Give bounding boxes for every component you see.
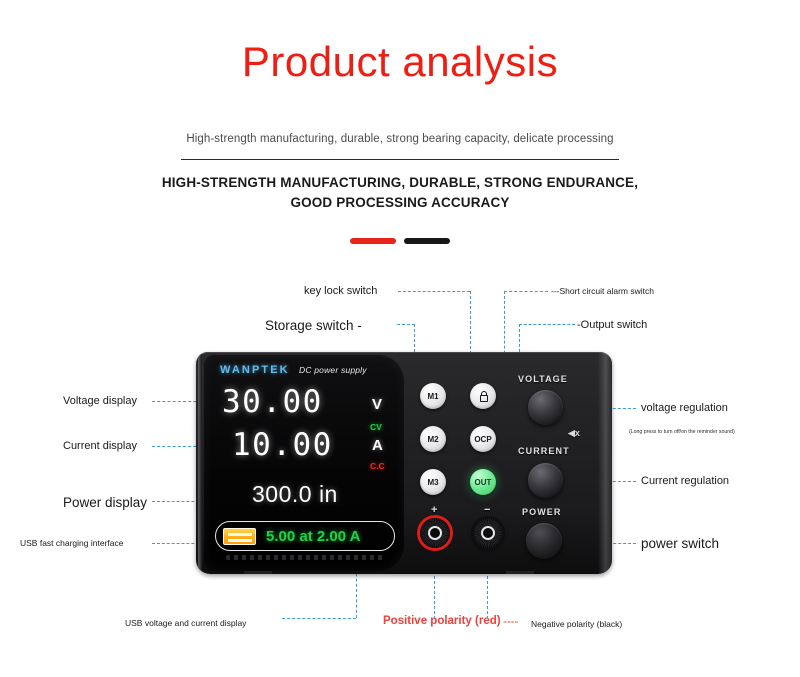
leader-key-lock-h — [398, 291, 470, 292]
page-title: Product analysis — [0, 38, 800, 86]
leader-usb-readout-h — [282, 618, 356, 619]
callout-short-circuit-alarm-switch: ---Short circuit alarm switch — [551, 286, 654, 296]
subtitle: High-strength manufacturing, durable, st… — [0, 133, 800, 145]
callout-usb-voltage-and-current-display: USB voltage and current display — [125, 618, 246, 628]
leader-storage-h — [397, 324, 415, 325]
memory-button-m1[interactable]: M1 — [420, 383, 446, 409]
callout-power-display: Power display — [63, 495, 147, 510]
positive-binding-post[interactable] — [420, 518, 450, 548]
voltage-unit: V — [372, 396, 382, 413]
callout-voltage-display: Voltage display — [63, 395, 137, 407]
m1-label: M1 — [427, 392, 438, 401]
callout-voltage-regulation-note: (Long press to turn off/on the reminder … — [629, 429, 735, 435]
key-lock-button[interactable] — [470, 383, 496, 409]
polarity-dash: ---- — [503, 616, 518, 628]
accent-dash-black — [404, 238, 450, 244]
device-chassis: WANPTEK DC power supply 30.00 V 10.00 A … — [196, 352, 612, 574]
brand-subtitle: DC power supply — [299, 365, 367, 375]
cc-indicator: C.C — [370, 461, 385, 471]
power-readout: 300.0 in — [252, 481, 338, 508]
memory-button-m2[interactable]: M2 — [420, 426, 446, 452]
m3-label: M3 — [427, 478, 438, 487]
dc-power-supply-device: WANPTEK DC power supply 30.00 V 10.00 A … — [196, 352, 612, 574]
power-knob-label: POWER — [522, 507, 562, 517]
device-screen: WANPTEK DC power supply 30.00 V 10.00 A … — [204, 355, 404, 571]
device-bezel — [198, 354, 202, 572]
callout-positive-polarity: Positive polarity (red) — [383, 615, 501, 627]
callout-negative-polarity: Negative polarity (black) — [531, 619, 622, 629]
ocp-button[interactable]: OCP — [470, 426, 496, 452]
usb-readout-text: 5.00 at 2.00 A — [266, 528, 361, 545]
callout-voltage-regulation: voltage regulation — [641, 402, 728, 414]
m2-label: M2 — [427, 435, 438, 444]
mute-icon: ◀x — [568, 428, 580, 439]
cv-indicator: CV — [370, 422, 382, 432]
callout-output-switch: -Output switch — [577, 319, 647, 331]
callout-storage-switch: Storage switch - — [265, 318, 362, 333]
voltage-knob[interactable] — [528, 390, 563, 425]
out-label: OUT — [475, 478, 492, 487]
headline-line-2: GOOD PROCESSING ACCURACY — [290, 195, 509, 210]
power-switch-knob[interactable] — [526, 523, 562, 559]
ocp-label: OCP — [474, 435, 491, 444]
accent-dashes — [0, 232, 800, 250]
callout-power-switch: power switch — [641, 536, 719, 551]
divider-rule — [181, 159, 619, 160]
usb-icon — [223, 528, 256, 545]
callout-current-display: Current display — [63, 440, 137, 452]
voltage-readout: 30.00 — [222, 387, 323, 418]
current-readout: 10.00 — [232, 430, 333, 461]
voltage-knob-label: VOLTAGE — [518, 374, 568, 384]
callout-key-lock-switch: key lock switch — [304, 285, 377, 297]
current-knob-label: CURRENT — [518, 446, 570, 456]
headline: HIGH-STRENGTH MANUFACTURING, DURABLE, ST… — [150, 173, 650, 213]
memory-button-m3[interactable]: M3 — [420, 469, 446, 495]
leader-output-h — [519, 324, 575, 325]
device-foot-left — [244, 571, 272, 574]
vent-grille — [226, 555, 384, 560]
lock-icon — [479, 391, 488, 402]
output-button[interactable]: OUT — [470, 469, 496, 495]
leader-alarm-h — [504, 291, 548, 292]
callout-usb-fast-charging-interface: USB fast charging interface — [20, 538, 123, 548]
product-analysis-infographic: Product analysis High-strength manufactu… — [0, 0, 800, 677]
positive-post-hole — [428, 526, 442, 540]
usb-readout-bar: 5.00 at 2.00 A — [215, 521, 395, 551]
negative-post-hole — [481, 526, 495, 540]
accent-dash-red — [350, 238, 396, 244]
headline-line-1: HIGH-STRENGTH MANUFACTURING, DURABLE, ST… — [162, 175, 638, 190]
negative-binding-post[interactable] — [473, 518, 503, 548]
device-foot-right — [506, 571, 534, 574]
current-knob[interactable] — [528, 463, 563, 498]
current-unit: A — [372, 437, 383, 454]
positive-terminal-symbol: + — [431, 504, 437, 516]
negative-terminal-symbol: − — [484, 504, 490, 516]
callout-current-regulation: Current regulation — [641, 475, 729, 487]
brand-logo: WANPTEK — [220, 364, 290, 376]
